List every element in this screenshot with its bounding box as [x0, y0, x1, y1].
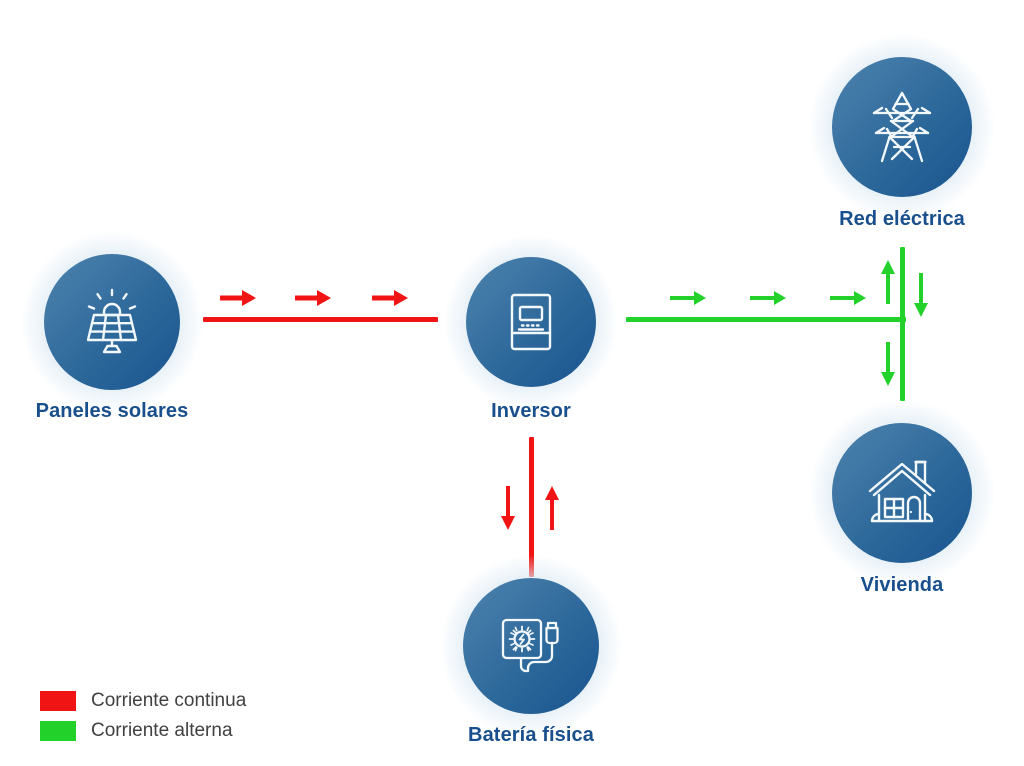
legend-item-ac: Corriente alterna [40, 716, 246, 746]
arrow-dc-right-2 [293, 287, 333, 309]
arrow-dc-right-3 [370, 287, 410, 309]
bateria-fisica-circle[interactable] [463, 578, 599, 714]
legend-label-ac: Corriente alterna [91, 720, 233, 742]
arrow-ac-down-to-house [877, 340, 899, 388]
paneles-solares-label: Paneles solares [36, 400, 189, 423]
legend-item-dc: Corriente continua [40, 686, 246, 716]
arrow-ac-right-2 [748, 287, 788, 309]
bateria-fisica-label: Batería física [468, 724, 594, 747]
battery-charger-icon [491, 606, 571, 686]
arrow-ac-right-1 [668, 287, 708, 309]
connector-paneles-inversor [203, 317, 438, 322]
ac-swatch [40, 721, 76, 741]
inverter-icon [494, 285, 568, 359]
connector-inversor-red [626, 317, 906, 322]
red-electrica-circle[interactable] [832, 57, 972, 197]
vivienda-circle[interactable] [832, 423, 972, 563]
diagram-canvas: Paneles solares Inversor [0, 0, 1024, 766]
solar-panel-icon [72, 282, 152, 362]
connector-red-vivienda [900, 247, 905, 401]
house-icon [860, 451, 944, 535]
arrow-dc-right-1 [218, 287, 258, 309]
paneles-solares-circle[interactable] [44, 254, 180, 390]
legend: Corriente continua Corriente alterna [40, 686, 246, 746]
arrow-dc-up-from-battery [541, 484, 563, 532]
inversor-circle[interactable] [466, 257, 596, 387]
legend-label-dc: Corriente continua [91, 690, 246, 712]
vivienda-label: Vivienda [861, 574, 944, 597]
arrow-dc-down-to-battery [497, 484, 519, 532]
dc-swatch [40, 691, 76, 711]
arrow-ac-up-to-grid [877, 258, 899, 306]
inversor-label: Inversor [491, 400, 571, 423]
red-electrica-label: Red eléctrica [839, 208, 965, 231]
arrow-ac-right-3 [828, 287, 868, 309]
power-tower-icon [860, 85, 944, 169]
arrow-ac-down-from-grid [910, 271, 932, 319]
